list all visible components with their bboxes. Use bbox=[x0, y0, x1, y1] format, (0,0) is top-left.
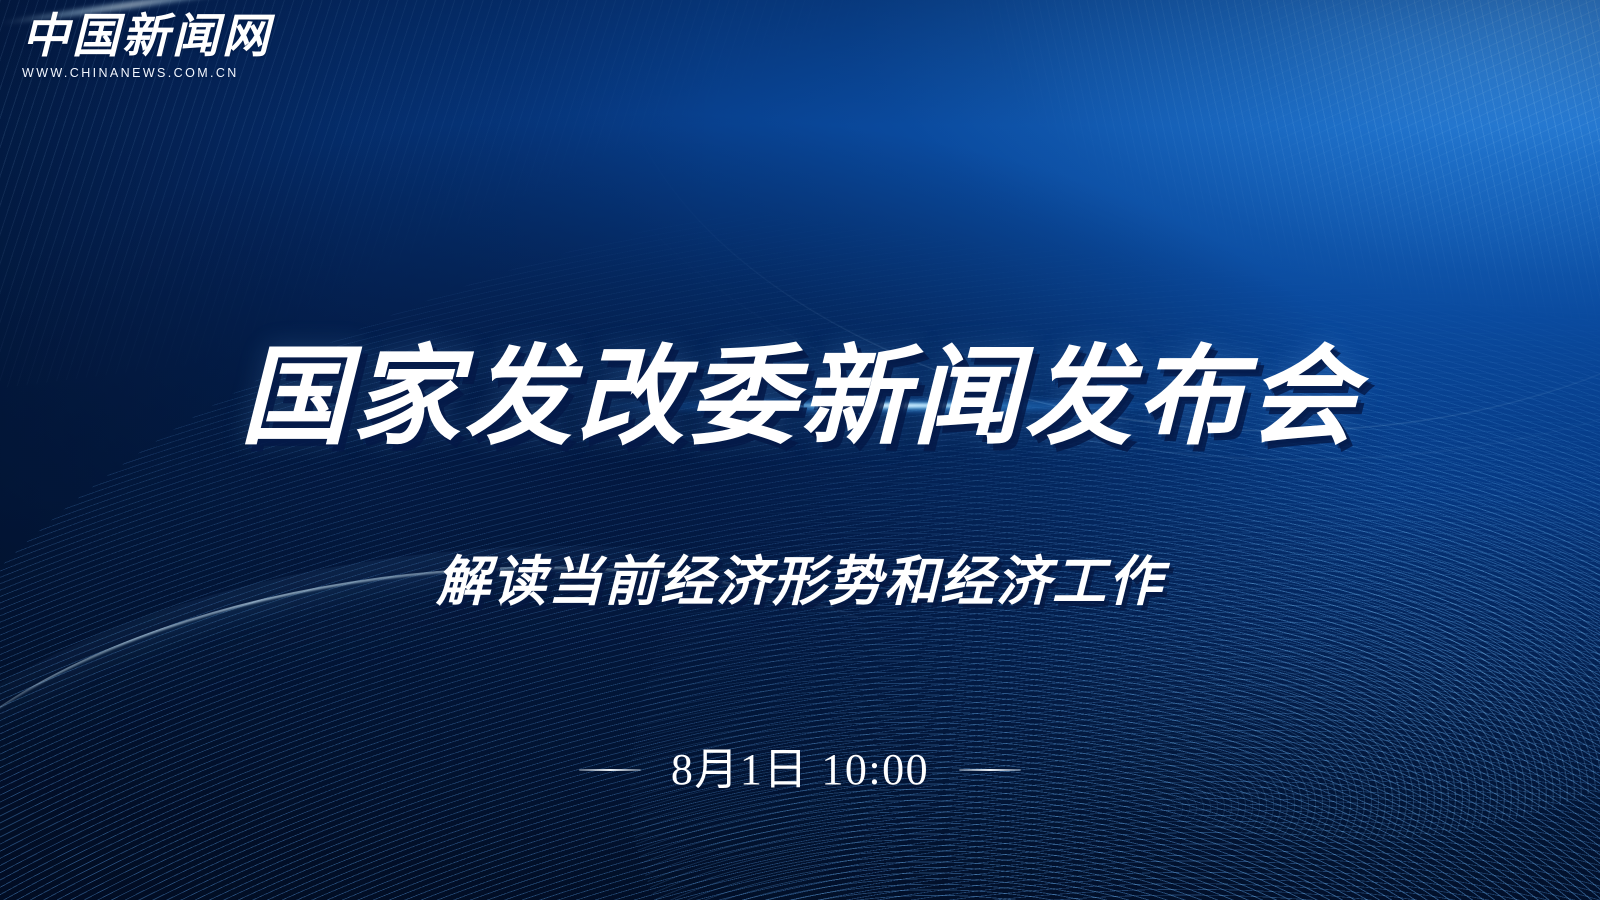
datetime-block: 8月1日 10:00 bbox=[579, 748, 1021, 792]
datetime-rule-right bbox=[959, 769, 1021, 771]
poster-datetime: 8月1日 10:00 bbox=[671, 748, 929, 792]
logo-website-url: WWW.CHINANEWS.COM.CN bbox=[22, 66, 272, 80]
logo-wordmark-cn: 中国新闻网 bbox=[22, 14, 272, 62]
title-block: 国家发改委新闻发布会 bbox=[240, 272, 1360, 525]
chinanews-logo[interactable]: 中国新闻网 WWW.CHINANEWS.COM.CN bbox=[22, 14, 272, 80]
poster-content: 国家发改委新闻发布会 解读当前经济形势和经济工作 8月1日 10:00 bbox=[0, 0, 1600, 900]
poster-subtitle: 解读当前经济形势和经济工作 bbox=[436, 555, 1164, 609]
datetime-rule-left bbox=[579, 769, 641, 771]
news-conference-poster: 中国新闻网 WWW.CHINANEWS.COM.CN 国家发改委新闻发布会 解读… bbox=[0, 0, 1600, 900]
poster-title: 国家发改委新闻发布会 bbox=[240, 344, 1360, 452]
